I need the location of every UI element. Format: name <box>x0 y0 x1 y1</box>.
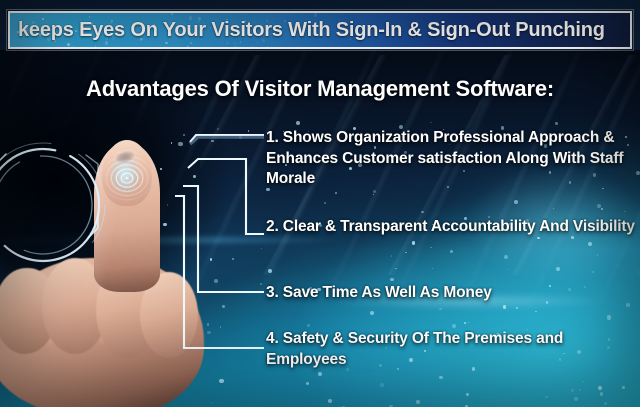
list-item: 1. Shows Organization Professional Appro… <box>266 128 638 190</box>
advantages-list: 1. Shows Organization Professional Appro… <box>0 0 640 407</box>
list-item: 3. Save Time As Well As Money <box>266 283 638 304</box>
list-item: 4. Safety & Security Of The Premises and… <box>266 329 638 370</box>
poster-canvas: keeps Eyes On Your Visitors With Sign-In… <box>0 0 640 407</box>
list-item: 2. Clear & Transparent Accountability An… <box>266 217 638 238</box>
